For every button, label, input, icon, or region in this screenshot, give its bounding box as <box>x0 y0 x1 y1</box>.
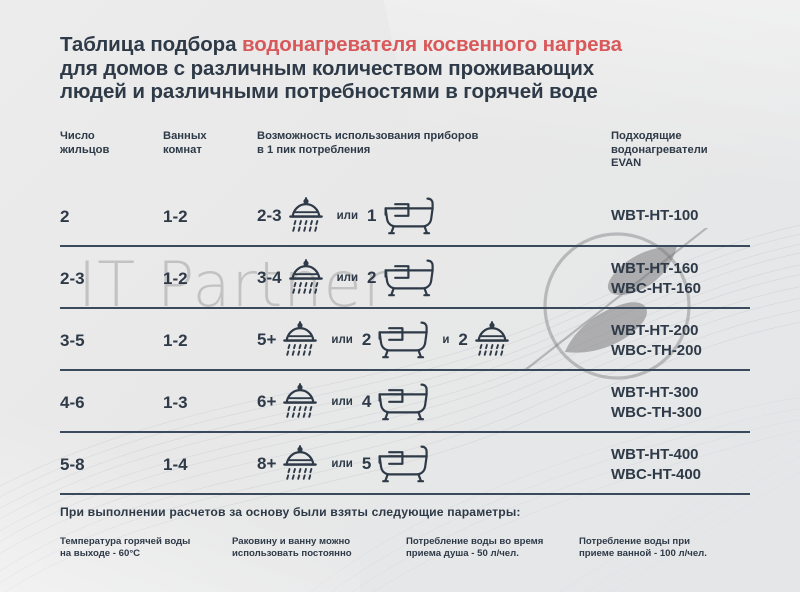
title-line-1-black: Таблица подбора <box>60 33 242 56</box>
title-line-2: для домов с различным количеством прожив… <box>60 57 760 81</box>
usage-conjunction: или <box>337 272 358 284</box>
shower-icon <box>286 195 326 237</box>
footer-note-shower-usage: Потребление воды во время приема душа - … <box>406 536 596 560</box>
table-row: 2-31-23-4или2WBT-HT-160WBC-HT-160 <box>60 247 750 309</box>
usage-conjunction: или <box>331 334 352 346</box>
bath-icon <box>375 319 431 361</box>
cell-models: WBT-HT-100 <box>611 206 699 226</box>
shower-icon <box>286 257 326 299</box>
model-code: WBC-HT-400 <box>611 465 701 485</box>
title-line-1-red: водонагревателя косвенного нагрева <box>242 33 622 56</box>
footer-note-temperature: Температура горячей воды на выходе - 60°… <box>60 536 240 560</box>
table-row: 21-22-3или1WBT-HT-100 <box>60 185 750 247</box>
page-title: Таблица подбора водонагревателя косвенно… <box>60 33 760 104</box>
usage-quantity: 8+ <box>257 454 276 474</box>
usage-quantity: 5 <box>362 454 371 474</box>
shower-icon <box>280 319 320 361</box>
model-code: WBT-HT-200 <box>611 321 702 341</box>
usage-quantity: 2 <box>362 330 371 350</box>
model-code: WBC-TH-300 <box>611 403 702 423</box>
cell-models: WBT-HT-400WBC-HT-400 <box>611 445 701 485</box>
column-header-bathrooms: Ванных комнат <box>163 130 253 157</box>
usage-conjunction: и <box>442 334 449 346</box>
table-row: 3-51-25+или2и2WBT-HT-200WBC-TH-200 <box>60 309 750 371</box>
usage-conjunction: или <box>337 210 358 222</box>
cell-people-count: 4-6 <box>60 393 85 413</box>
bath-icon <box>381 257 437 299</box>
title-line-1: Таблица подбора водонагревателя косвенно… <box>60 33 760 57</box>
footer-columns: Температура горячей воды на выходе - 60°… <box>60 536 760 570</box>
cell-usage: 5+или2и2 <box>257 317 514 363</box>
bath-icon <box>375 443 431 485</box>
usage-quantity: 1 <box>367 206 376 226</box>
cell-bathroom-count: 1-2 <box>163 331 188 351</box>
usage-quantity: 2-3 <box>257 206 282 226</box>
cell-people-count: 3-5 <box>60 331 85 351</box>
usage-quantity: 2 <box>458 330 467 350</box>
cell-people-count: 5-8 <box>60 455 85 475</box>
cell-models: WBT-HT-300WBC-TH-300 <box>611 383 702 423</box>
cell-people-count: 2 <box>60 207 69 227</box>
usage-quantity: 5+ <box>257 330 276 350</box>
table-header-row: Число жильцов Ванных комнат Возможность … <box>60 130 750 185</box>
model-code: WBT-HT-300 <box>611 383 702 403</box>
footer-title: При выполнении расчетов за основу были в… <box>60 505 760 519</box>
model-code: WBT-HT-100 <box>611 206 699 226</box>
bath-icon <box>375 381 431 423</box>
cell-models: WBT-HT-160WBC-HT-160 <box>611 259 701 299</box>
column-header-usage: Возможность использования приборов в 1 п… <box>257 130 587 157</box>
cell-models: WBT-HT-200WBC-TH-200 <box>611 321 702 361</box>
footer-note-sink-bath: Раковину и ванну можно использовать пост… <box>232 536 412 560</box>
bath-icon <box>375 319 431 361</box>
bath-icon <box>381 195 437 237</box>
cell-usage: 6+или4 <box>257 379 433 425</box>
title-line-3: людей и различными потребностями в горяч… <box>60 80 760 104</box>
cell-usage: 2-3или1 <box>257 193 439 239</box>
bath-icon <box>381 195 437 237</box>
footer-notes: При выполнении расчетов за основу были в… <box>60 505 760 570</box>
usage-quantity: 6+ <box>257 392 276 412</box>
shower-icon <box>472 319 512 361</box>
shower-icon <box>280 381 320 423</box>
table-row: 5-81-48+или5WBT-HT-400WBC-HT-400 <box>60 433 750 495</box>
model-code: WBT-HT-400 <box>611 445 701 465</box>
bath-icon <box>375 443 431 485</box>
usage-conjunction: или <box>331 396 352 408</box>
usage-quantity: 3-4 <box>257 268 282 288</box>
cell-bathroom-count: 1-2 <box>163 269 188 289</box>
cell-bathroom-count: 1-4 <box>163 455 188 475</box>
cell-usage: 3-4или2 <box>257 255 439 301</box>
shower-icon <box>286 195 326 237</box>
shower-icon <box>280 319 320 361</box>
model-code: WBT-HT-160 <box>611 259 701 279</box>
infographic-page: IT Partner Таблица подбора водонагревате… <box>0 0 800 592</box>
column-header-models: Подходящие водонагреватели EVAN <box>611 130 771 171</box>
cell-bathroom-count: 1-2 <box>163 207 188 227</box>
model-code: WBC-TH-200 <box>611 341 702 361</box>
usage-conjunction: или <box>331 458 352 470</box>
shower-icon <box>280 443 320 485</box>
table-body: 21-22-3или1WBT-HT-1002-31-23-4или2WBT-HT… <box>60 185 750 495</box>
column-header-people: Число жильцов <box>60 130 155 157</box>
table-row: 4-61-36+или4WBT-HT-300WBC-TH-300 <box>60 371 750 433</box>
shower-icon <box>280 381 320 423</box>
shower-icon <box>472 319 512 361</box>
footer-note-bath-usage: Потребление воды при приеме ванной - 100… <box>579 536 779 560</box>
shower-icon <box>280 443 320 485</box>
cell-bathroom-count: 1-3 <box>163 393 188 413</box>
bath-icon <box>375 381 431 423</box>
cell-people-count: 2-3 <box>60 269 85 289</box>
usage-quantity: 4 <box>362 392 371 412</box>
model-code: WBC-HT-160 <box>611 279 701 299</box>
cell-usage: 8+или5 <box>257 441 433 487</box>
shower-icon <box>286 257 326 299</box>
usage-quantity: 2 <box>367 268 376 288</box>
selection-table: Число жильцов Ванных комнат Возможность … <box>60 130 750 495</box>
bath-icon <box>381 257 437 299</box>
